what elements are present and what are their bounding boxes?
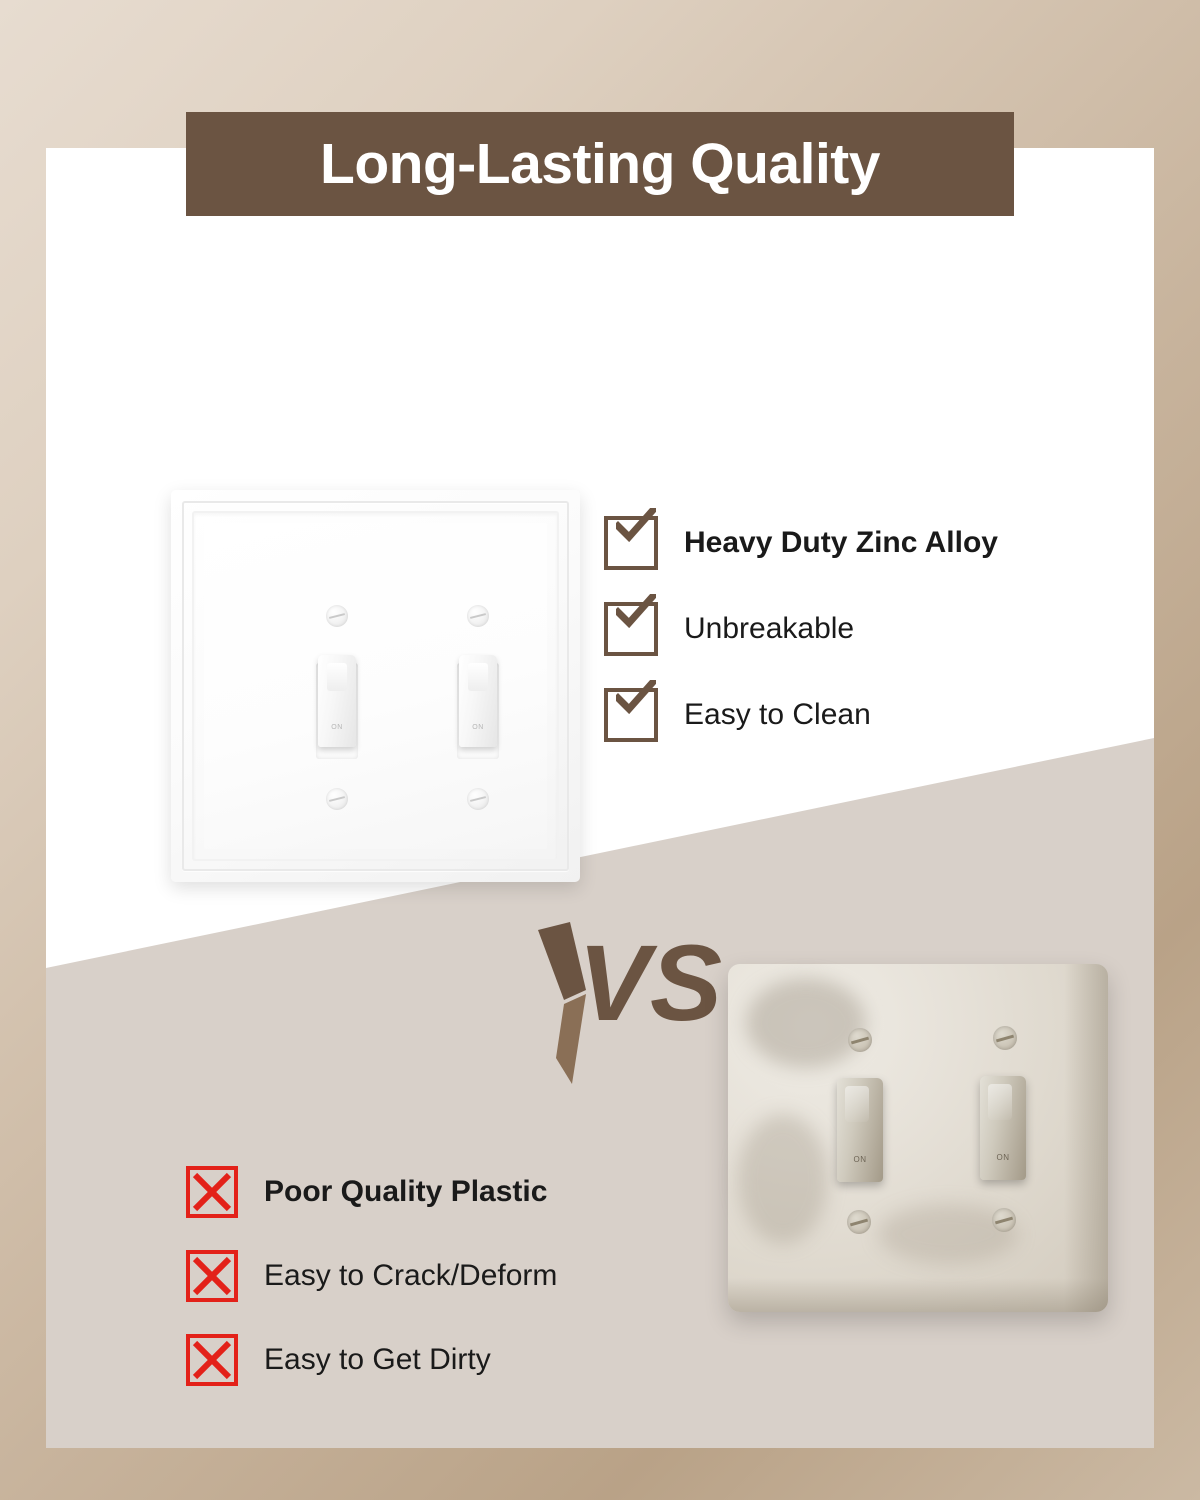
list-item: Easy to Get Dirty	[186, 1334, 746, 1386]
drawback-label: Easy to Get Dirty	[264, 1343, 491, 1377]
screw-bottom-right-icon	[992, 1208, 1016, 1232]
versus-badge: VS	[526, 908, 726, 1088]
toggle-on-label-right: ON	[469, 723, 487, 733]
toggle-lever-right[interactable]: ON	[459, 655, 497, 747]
toggle-lever-left[interactable]	[837, 1078, 883, 1182]
screw-top-left-icon	[848, 1028, 872, 1052]
x-icon	[186, 1334, 238, 1386]
x-icon	[186, 1166, 238, 1218]
benefit-label: Unbreakable	[684, 612, 854, 646]
toggle-on-label-left: ON	[837, 1155, 883, 1164]
screw-bottom-right-icon	[467, 788, 489, 810]
list-item: Easy to Crack/Deform	[186, 1250, 746, 1302]
x-icon	[186, 1250, 238, 1302]
stain-mark	[738, 1114, 828, 1244]
list-item: Easy to Clean	[604, 688, 1124, 742]
list-item: Poor Quality Plastic	[186, 1166, 746, 1218]
toggle-lever-left[interactable]: ON	[318, 655, 356, 747]
check-icon	[604, 688, 658, 742]
page-title: Long-Lasting Quality	[320, 131, 880, 197]
plate-edge-shadow-bottom	[728, 1278, 1108, 1312]
screw-bottom-left-icon	[847, 1210, 871, 1234]
benefit-label: Heavy Duty Zinc Alloy	[684, 526, 998, 560]
premium-wall-plate-image: ON ON	[171, 490, 580, 882]
drawback-label: Easy to Crack/Deform	[264, 1259, 557, 1293]
plate-face: ON ON	[204, 523, 547, 849]
list-item: Heavy Duty Zinc Alloy	[604, 516, 1124, 570]
toggle-switch-right[interactable]: ON	[980, 1076, 1026, 1180]
toggle-lever-right[interactable]	[980, 1076, 1026, 1180]
check-mark-icon	[616, 594, 656, 628]
screw-top-right-icon	[467, 605, 489, 627]
screw-top-left-icon	[326, 605, 348, 627]
stain-mark	[746, 978, 866, 1068]
plastic-wall-plate-image: ON ON	[728, 964, 1108, 1312]
toggle-switch-right[interactable]: ON	[457, 663, 499, 759]
screw-bottom-left-icon	[326, 788, 348, 810]
check-mark-icon	[616, 508, 656, 542]
check-icon	[604, 516, 658, 570]
drawback-label: Poor Quality Plastic	[264, 1175, 547, 1209]
drawbacks-checklist: Poor Quality Plastic Easy to Crack/Defor…	[186, 1166, 746, 1418]
benefit-label: Easy to Clean	[684, 698, 871, 732]
poster-card: ON ON Heavy Duty Zinc Al	[46, 148, 1154, 1448]
toggle-on-label-left: ON	[328, 723, 346, 733]
toggle-switch-left[interactable]: ON	[316, 663, 358, 759]
toggle-switch-left[interactable]: ON	[837, 1078, 883, 1182]
toggle-on-label-right: ON	[980, 1153, 1026, 1162]
plate-edge-shadow-right	[1064, 964, 1108, 1312]
benefits-checklist: Heavy Duty Zinc Alloy Unbreakable Easy t…	[604, 516, 1124, 774]
product-comparison-poster: ON ON Heavy Duty Zinc Al	[0, 0, 1200, 1500]
check-mark-icon	[616, 680, 656, 714]
svg-text:VS: VS	[578, 922, 722, 1043]
check-icon	[604, 602, 658, 656]
screw-top-right-icon	[993, 1026, 1017, 1050]
list-item: Unbreakable	[604, 602, 1124, 656]
poster-title-band: Long-Lasting Quality	[186, 112, 1014, 216]
